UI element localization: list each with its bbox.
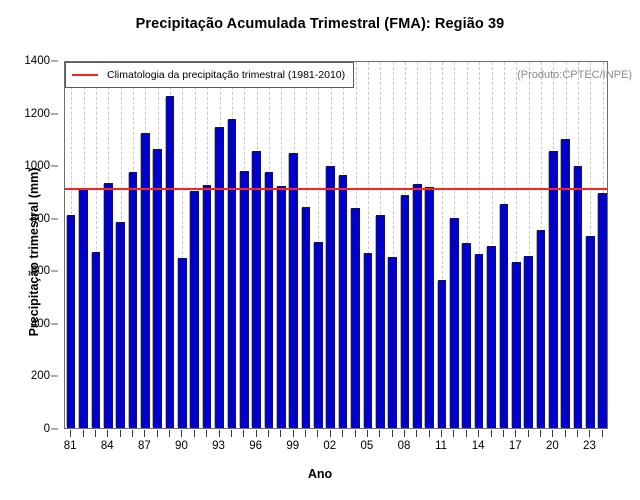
x-tick-mark bbox=[219, 430, 220, 437]
x-tick-mark bbox=[280, 430, 281, 437]
y-tick-label: 1200 bbox=[24, 108, 50, 120]
x-tick-label: 87 bbox=[138, 440, 151, 452]
y-tick-mark bbox=[51, 61, 58, 62]
x-tick-mark bbox=[206, 430, 207, 437]
y-tick-label: 400 bbox=[31, 318, 50, 330]
y-tick-label: 600 bbox=[31, 265, 50, 277]
y-tick-label: 800 bbox=[31, 213, 50, 225]
plot-area bbox=[64, 61, 608, 429]
y-tick-mark bbox=[51, 376, 58, 377]
y-tick-label: 1400 bbox=[24, 55, 50, 67]
x-tick-mark bbox=[268, 430, 269, 437]
x-tick-mark bbox=[355, 430, 356, 437]
legend-label: Climatologia da precipitação trimestral … bbox=[107, 69, 345, 81]
chart-canvas: Precipitação Acumulada Trimestral (FMA):… bbox=[0, 0, 640, 500]
x-tick-label: 99 bbox=[286, 440, 299, 452]
x-tick-mark bbox=[478, 430, 479, 437]
x-tick-mark bbox=[552, 430, 553, 437]
x-tick-mark bbox=[540, 430, 541, 437]
x-tick-mark bbox=[144, 430, 145, 437]
x-axis: Ano 818487909396990205081114172023 bbox=[0, 429, 640, 500]
x-axis-title: Ano bbox=[0, 467, 640, 481]
x-tick-mark bbox=[416, 430, 417, 437]
x-tick-label: 14 bbox=[472, 440, 485, 452]
x-tick-mark bbox=[515, 430, 516, 437]
x-tick-label: 23 bbox=[583, 440, 596, 452]
x-tick-mark bbox=[70, 430, 71, 437]
x-tick-mark bbox=[231, 430, 232, 437]
y-tick-mark bbox=[51, 166, 58, 167]
y-tick-label: 1000 bbox=[24, 160, 50, 172]
x-tick-mark bbox=[441, 430, 442, 437]
x-tick-mark bbox=[305, 430, 306, 437]
x-tick-label: 84 bbox=[101, 440, 114, 452]
x-tick-mark bbox=[342, 430, 343, 437]
x-tick-mark bbox=[577, 430, 578, 437]
x-tick-mark bbox=[181, 430, 182, 437]
x-tick-mark bbox=[367, 430, 368, 437]
x-tick-mark bbox=[194, 430, 195, 437]
y-tick-mark bbox=[51, 323, 58, 324]
x-tick-label: 93 bbox=[212, 440, 225, 452]
x-tick-mark bbox=[453, 430, 454, 437]
x-tick-mark bbox=[120, 430, 121, 437]
x-tick-mark bbox=[503, 430, 504, 437]
legend-line-swatch bbox=[72, 74, 98, 76]
x-tick-mark bbox=[157, 430, 158, 437]
x-tick-mark bbox=[379, 430, 380, 437]
x-tick-mark bbox=[330, 430, 331, 437]
y-tick-mark bbox=[51, 271, 58, 272]
x-tick-mark bbox=[528, 430, 529, 437]
y-tick-label: 200 bbox=[31, 370, 50, 382]
x-tick-label: 96 bbox=[249, 440, 262, 452]
climatology-layer bbox=[65, 62, 607, 428]
y-tick-mark bbox=[51, 218, 58, 219]
x-tick-mark bbox=[243, 430, 244, 437]
x-tick-label: 05 bbox=[361, 440, 374, 452]
x-tick-label: 90 bbox=[175, 440, 188, 452]
legend: Climatologia da precipitação trimestral … bbox=[65, 62, 354, 88]
x-tick-label: 08 bbox=[398, 440, 411, 452]
x-tick-mark bbox=[83, 430, 84, 437]
chart-title: Precipitação Acumulada Trimestral (FMA):… bbox=[0, 16, 640, 32]
x-tick-mark bbox=[491, 430, 492, 437]
x-tick-mark bbox=[95, 430, 96, 437]
x-tick-mark bbox=[602, 430, 603, 437]
x-tick-mark bbox=[256, 430, 257, 437]
x-tick-mark bbox=[293, 430, 294, 437]
x-tick-mark bbox=[565, 430, 566, 437]
x-tick-mark bbox=[466, 430, 467, 437]
x-tick-label: 20 bbox=[546, 440, 559, 452]
y-tick-mark bbox=[51, 113, 58, 114]
x-tick-label: 02 bbox=[323, 440, 336, 452]
y-axis: Precipitação trimestral (mm) 02004006008… bbox=[0, 0, 64, 500]
x-tick-mark bbox=[317, 430, 318, 437]
x-tick-mark bbox=[404, 430, 405, 437]
x-tick-mark bbox=[429, 430, 430, 437]
x-tick-label: 81 bbox=[64, 440, 77, 452]
x-tick-label: 11 bbox=[435, 440, 447, 452]
x-tick-mark bbox=[132, 430, 133, 437]
x-tick-mark bbox=[169, 430, 170, 437]
producer-credit: (Produto:CPTEC/INPE) bbox=[517, 69, 632, 81]
x-tick-mark bbox=[107, 430, 108, 437]
x-tick-mark bbox=[589, 430, 590, 437]
x-tick-mark bbox=[392, 430, 393, 437]
x-tick-label: 17 bbox=[509, 440, 522, 452]
climatology-reference-line bbox=[65, 188, 607, 190]
